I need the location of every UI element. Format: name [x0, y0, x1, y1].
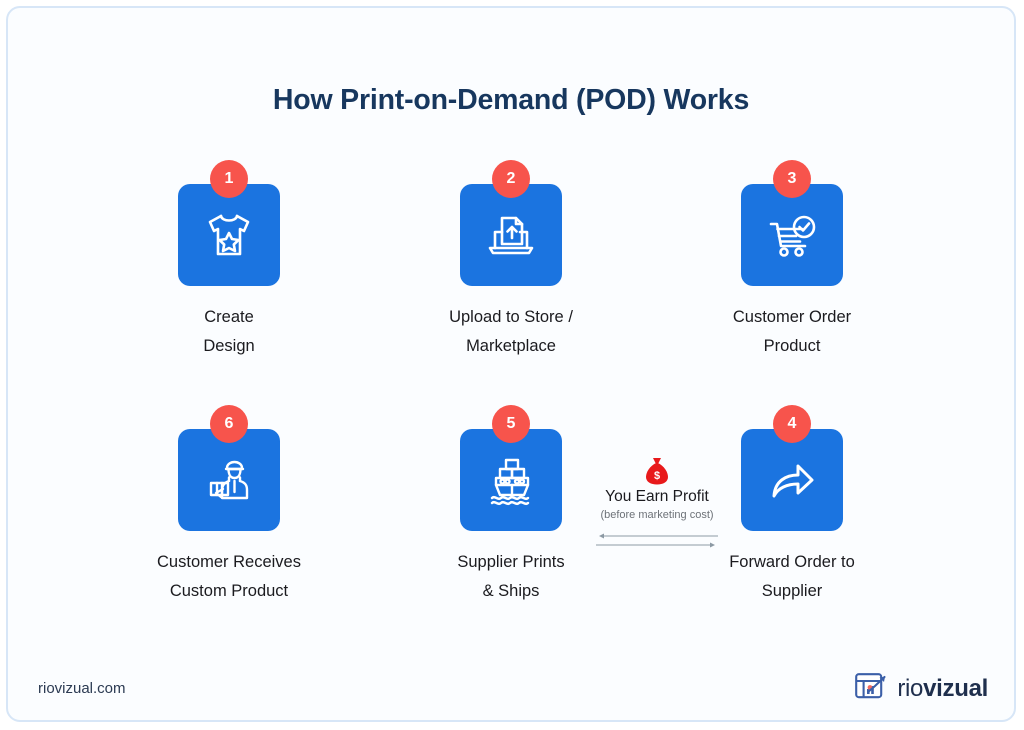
- cargo-ship-icon: [479, 448, 543, 512]
- tshirt-star-icon: [197, 203, 261, 267]
- step-label: Customer Order Product: [682, 303, 902, 361]
- forward-arrow-icon: [760, 448, 824, 512]
- step-label: Create Design: [119, 303, 339, 361]
- profit-subtitle: (before marketing cost): [581, 509, 733, 521]
- logo-text-bold: vizual: [923, 675, 988, 702]
- step-2: 2 Upload to Store / Marketplace: [401, 160, 621, 361]
- step-icon-tile: [741, 429, 843, 531]
- step-number-badge: 1: [210, 160, 248, 198]
- cart-check-icon: [760, 203, 824, 267]
- step-icon-tile: [178, 184, 280, 286]
- laptop-upload-icon: [479, 203, 543, 267]
- step-icon-tile: [460, 184, 562, 286]
- footer-url[interactable]: riovizual.com: [38, 680, 126, 697]
- logo-text-light: rio: [897, 675, 923, 702]
- profit-annotation: $ You Earn Profit (before marketing cost…: [581, 456, 733, 550]
- step-icon-tile: [741, 184, 843, 286]
- profit-title: You Earn Profit: [581, 488, 733, 506]
- infographic-page: How Print-on-Demand (POD) Works 1 Create…: [6, 6, 1016, 722]
- profit-flow-arrows: [581, 532, 733, 550]
- step-label: Upload to Store / Marketplace: [401, 303, 621, 361]
- step-number-badge: 6: [210, 405, 248, 443]
- step-6: 6: [119, 405, 339, 606]
- svg-text:$: $: [654, 470, 660, 482]
- step-number-badge: 5: [492, 405, 530, 443]
- brand-logo[interactable]: riovizual: [854, 670, 988, 707]
- chart-window-icon: [854, 670, 888, 707]
- step-1: 1 Create Design: [119, 160, 339, 361]
- steps-grid: 1 Create Design 2: [8, 8, 1014, 722]
- step-number-badge: 2: [492, 160, 530, 198]
- step-icon-tile: [178, 429, 280, 531]
- logo-wordmark: riovizual: [897, 675, 988, 703]
- step-icon-tile: [460, 429, 562, 531]
- money-bag-icon: $: [581, 456, 733, 486]
- step-label: Supplier Prints & Ships: [401, 548, 621, 606]
- step-3: 3 Customer Order Product: [682, 160, 902, 361]
- step-label: Forward Order to Supplier: [682, 548, 902, 606]
- step-number-badge: 3: [773, 160, 811, 198]
- delivery-person-icon: [197, 448, 261, 512]
- step-label: Customer Receives Custom Product: [119, 548, 339, 606]
- step-number-badge: 4: [773, 405, 811, 443]
